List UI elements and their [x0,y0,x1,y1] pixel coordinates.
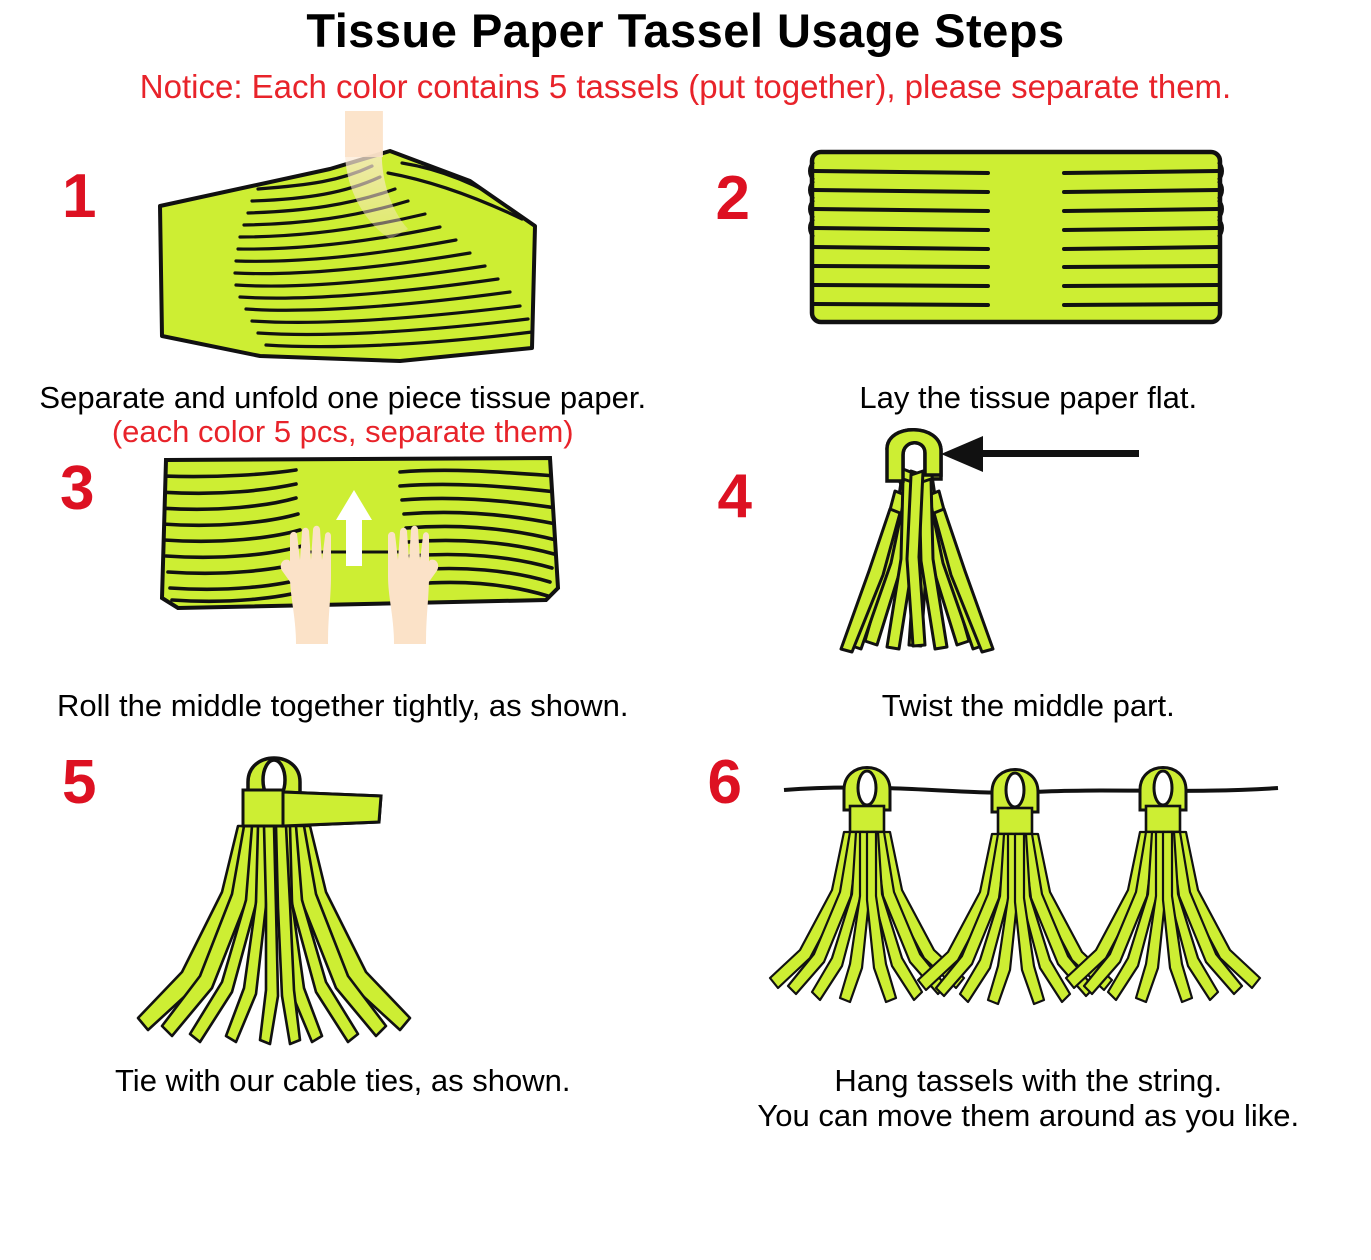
steps-row-3: 5 [0,730,1371,1133]
step-5-number: 5 [62,752,96,814]
step-3-number: 3 [60,458,94,520]
step-5: 5 [0,730,686,1133]
notice-text: Notice: Each color contains 5 tassels (p… [0,69,1371,105]
step-3: 3 [0,444,686,724]
step-6-caption-sub: You can move them around as you like. [757,1099,1299,1134]
step-4-illustration [791,409,1251,674]
step-6-number: 6 [708,752,742,814]
step-2-illustration [806,146,1226,336]
step-4-caption: Twist the middle part. [882,689,1175,724]
step-3-caption: Roll the middle together tightly, as sho… [57,689,629,724]
step-1: 1 [0,106,686,450]
step-1-illustration [140,111,570,381]
step-4: 4 [686,444,1371,724]
step-5-caption: Tie with our cable ties, as shown. [115,1064,570,1099]
page-title: Tissue Paper Tassel Usage Steps [0,6,1371,55]
steps-row-2: 3 [0,444,1371,724]
step-6-illustration [766,744,1286,1044]
step-4-number: 4 [718,466,752,528]
steps-row-1: 1 [0,106,1371,450]
hanging-tassel [1066,767,1260,1002]
step-3-illustration [150,448,590,678]
step-1-number: 1 [62,166,96,228]
instruction-sheet: Tissue Paper Tassel Usage Steps Notice: … [0,6,1371,1260]
step-2-number: 2 [716,168,750,230]
left-arrow-icon [941,436,1139,472]
step-6-caption: Hang tassels with the string. [834,1064,1222,1099]
step-6: 6 [686,730,1371,1133]
step-1-caption: Separate and unfold one piece tissue pap… [39,381,646,416]
step-5-illustration [100,730,520,1050]
step-2: 2 [686,106,1371,450]
